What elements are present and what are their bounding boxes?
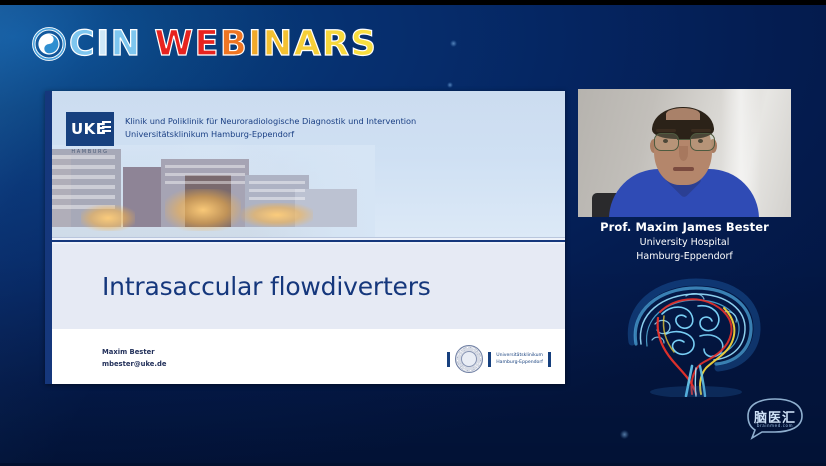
logo-letter-b: B [220, 27, 246, 62]
logo-letter-s: S [351, 27, 376, 62]
ocin-webinars-logo: C I N W E B I N A R S [32, 22, 375, 66]
speaker-video-feed[interactable] [578, 89, 791, 217]
university-seal-icon [455, 345, 483, 373]
uke-logo-bars-icon [102, 121, 111, 135]
seal-text: Universitätsklinikum Hamburg-Eppendorf [496, 352, 543, 367]
speaker-mouth [673, 167, 694, 171]
logo-letter-w: W [155, 27, 193, 62]
speaker-forehead [666, 108, 700, 120]
uke-logo-text: UKE [66, 120, 107, 138]
logo-letter-n: N [111, 27, 140, 62]
slide-left-accent-bar [45, 91, 52, 384]
background-bokeh-2 [450, 40, 457, 47]
background-bokeh-4 [620, 430, 629, 439]
neon-brain-graphic [600, 272, 790, 397]
hospital-building-photo [45, 145, 375, 237]
speaker-caption: Prof. Maxim James Bester University Hosp… [578, 220, 791, 262]
logo-letter-r: R [322, 27, 348, 62]
presentation-slide[interactable]: UKE HAMBURG Klinik und Poliklinik für Ne… [45, 91, 565, 384]
slide-title: Intrasaccular flowdiverters [45, 272, 431, 301]
speaker-affiliation-2: Hamburg-Eppendorf [578, 251, 791, 262]
author-name: Maxim Bester [102, 347, 166, 359]
logo-letter-n2: N [263, 27, 292, 62]
seal-text-line-1: Universitätsklinikum [496, 352, 543, 359]
background-bokeh-3 [447, 82, 453, 88]
seal-text-line-2: Hamburg-Eppendorf [496, 359, 543, 366]
department-line-2: Universitätsklinikum Hamburg-Eppendorf [125, 128, 416, 141]
speaker-affiliation-1: University Hospital [578, 237, 791, 248]
logo-letter-i: I [96, 27, 109, 62]
slide-title-band: Intrasaccular flowdiverters [45, 244, 565, 329]
webinar-screen: C I N W E B I N A R S [0, 0, 826, 466]
logo-letter-i2: I [248, 27, 261, 62]
speaker-eyebrow-right [691, 129, 711, 132]
speaker-eyebrow-left [656, 129, 676, 132]
uke-logo-mark: UKE [66, 112, 114, 146]
speaker-name: Prof. Maxim James Bester [578, 220, 791, 234]
slide-department-heading: Klinik und Poliklinik für Neuroradiologi… [125, 115, 416, 140]
speaker-nose [679, 146, 688, 161]
author-email: mbester@uke.de [102, 359, 166, 371]
slide-footer-band: Maxim Bester mbester@uke.de Universitäts… [45, 329, 565, 384]
logo-letter-a: A [294, 27, 321, 62]
uke-logo-city: HAMBURG [66, 149, 114, 155]
logo-letter-c: C [69, 27, 94, 62]
logo-letter-e: E [195, 27, 218, 62]
department-line-1: Klinik und Poliklinik für Neuroradiologi… [125, 115, 416, 128]
uke-logo: UKE HAMBURG [66, 112, 114, 155]
seal-left-bar [447, 352, 450, 367]
university-seal-logo: Universitätsklinikum Hamburg-Eppendorf [447, 345, 551, 373]
ocin-swirl-icon [32, 27, 66, 61]
seal-mid-bar [488, 352, 491, 367]
top-letterbox-bar [0, 0, 826, 5]
slide-header-band: UKE HAMBURG Klinik und Poliklinik für Ne… [45, 91, 565, 237]
seal-right-bar [548, 352, 551, 367]
slide-author-block: Maxim Bester mbester@uke.de [102, 347, 166, 371]
brainmed-watermark: 脑医汇 brainmed.com [740, 396, 810, 440]
watermark-subtext: brainmed.com [740, 423, 810, 428]
